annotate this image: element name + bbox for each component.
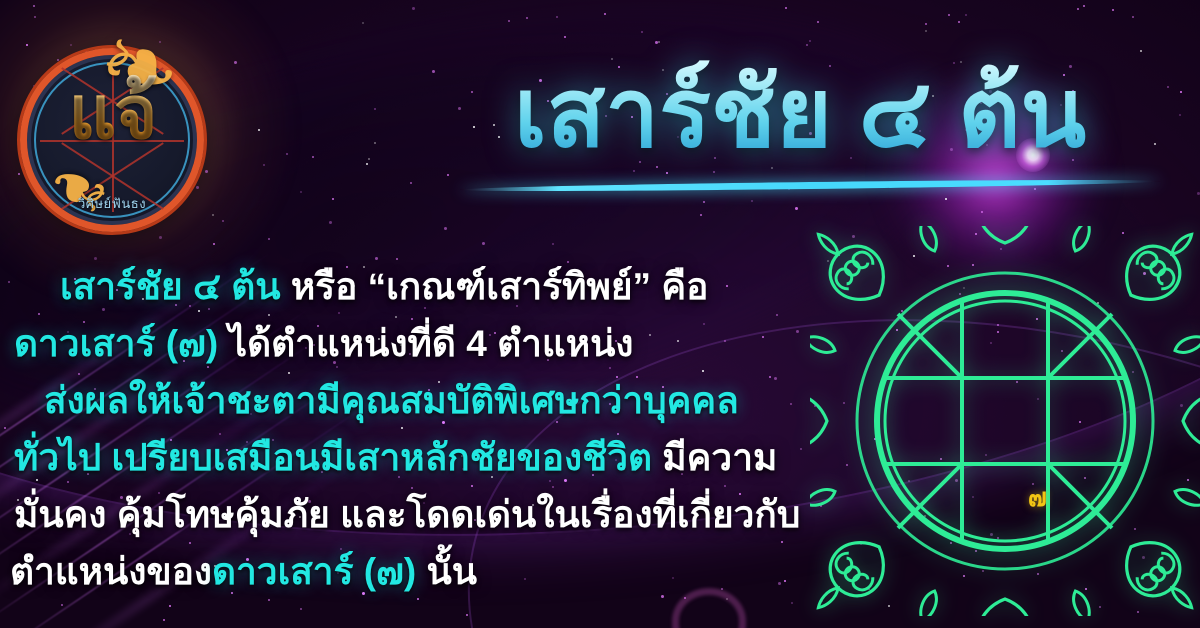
star-dot xyxy=(366,163,368,165)
star-dot xyxy=(412,7,415,10)
body-line-1: เสาร์ชัย ๔ ต้น หรือ “เกณฑ์เสาร์ทิพย์” คื… xyxy=(0,258,790,315)
star-dot xyxy=(234,61,237,64)
body-line-5: มั่นคง คุ้มโทษคุ้มภัย และโดดเด่นในเรื่อง… xyxy=(0,486,790,543)
star-dot xyxy=(790,403,792,405)
star-dot xyxy=(332,198,334,200)
star-dot xyxy=(1112,9,1114,11)
logo-subtitle: วิศิษย์ฟันธง xyxy=(14,193,210,214)
body-line-3-segment-1: ส่งผลให้เจ้าชะตามีคุณสมบัติพิเศษกว่าบุคค… xyxy=(44,380,739,421)
star-dot xyxy=(925,30,927,32)
star-dot xyxy=(817,21,819,23)
headline-block: เสาร์ชัย ๔ ต้น xyxy=(420,58,1180,170)
star-dot xyxy=(1083,5,1085,7)
star-dot xyxy=(312,156,314,158)
body-line-2-segment-1: ดาวเสาร์ (๗) xyxy=(14,323,228,364)
chart-divisions xyxy=(885,301,1125,541)
star-dot xyxy=(948,14,950,16)
star-dot xyxy=(981,211,983,213)
body-line-5-segment-1: มั่นคง คุ้มโทษคุ้มภัย และโดดเด่นในเรื่อง… xyxy=(14,494,800,535)
star-dot xyxy=(526,17,528,19)
body-line-2: ดาวเสาร์ (๗) ได้ตำแหน่งที่ดี 4 ตำแหน่ง xyxy=(0,315,790,372)
body-line-6-segment-2: ดาวเสาร์ (๗) xyxy=(212,551,426,592)
star-dot xyxy=(444,227,447,230)
star-dot xyxy=(633,170,635,172)
star-dot xyxy=(945,198,947,200)
star-dot xyxy=(374,142,376,144)
body-copy: เสาร์ชัย ๔ ต้น หรือ “เกณฑ์เสาร์ทิพย์” คื… xyxy=(0,258,790,600)
star-dot xyxy=(713,171,715,173)
star-dot xyxy=(552,243,554,245)
star-dot xyxy=(286,153,288,155)
body-line-2-segment-2: ได้ตำแหน่งที่ดี 4 ตำแหน่ง xyxy=(228,323,633,364)
star-dot xyxy=(508,20,510,22)
body-line-1-segment-2: หรือ “เกณฑ์เสาร์ทิพย์” คือ xyxy=(291,266,708,307)
star-dot xyxy=(1132,16,1134,18)
star-dot xyxy=(785,7,787,9)
brand-logo[interactable]: ❧ ❧ แจ้ วิศิษย์ฟันธง xyxy=(14,42,210,238)
star-dot xyxy=(1140,50,1142,52)
star-dot xyxy=(666,172,668,174)
star-dot xyxy=(925,23,927,25)
body-line-1-segment-1: เสาร์ชัย ๔ ต้น xyxy=(60,266,291,307)
star-dot xyxy=(556,16,558,18)
star-dot xyxy=(700,214,702,216)
star-dot xyxy=(791,602,793,604)
body-line-4-segment-1: ทั่วไป เปรียบเสมือนมีเสาหลักชัยของชีวิต xyxy=(14,437,662,478)
banner-canvas: ❧ ❧ แจ้ วิศิษย์ฟันธง เสาร์ชัย ๔ ต้น เสาร… xyxy=(0,0,1200,628)
star-dot xyxy=(374,108,376,110)
body-line-6: ตำแหน่งของดาวเสาร์ (๗) นั้น xyxy=(0,543,790,600)
star-dot xyxy=(1034,188,1036,190)
body-line-6-segment-3: นั้น xyxy=(426,551,477,592)
logo-wordmark: แจ้ xyxy=(14,70,210,156)
body-line-6-segment-1: ตำแหน่งของ xyxy=(10,551,212,592)
star-dot xyxy=(604,13,606,15)
star-dot xyxy=(795,207,798,210)
star-dot xyxy=(410,182,412,184)
star-dot xyxy=(1077,8,1079,10)
star-dot xyxy=(368,158,370,160)
star-dot xyxy=(447,174,449,176)
star-dot xyxy=(362,22,364,24)
star-dot xyxy=(800,448,802,450)
star-dot xyxy=(268,238,270,240)
star-dot xyxy=(796,330,799,333)
star-dot xyxy=(258,129,260,131)
star-dot xyxy=(329,221,332,224)
star-dot xyxy=(263,164,265,166)
star-dot xyxy=(641,31,643,33)
star-dot xyxy=(300,191,302,193)
star-dot xyxy=(658,41,660,43)
star-dot xyxy=(482,242,485,245)
star-dot xyxy=(958,21,960,23)
body-line-3: ส่งผลให้เจ้าชะตามีคุณสมบัติพิเศษกว่าบุคค… xyxy=(0,372,790,429)
star-dot xyxy=(809,40,811,42)
mandala-border xyxy=(810,226,1200,616)
star-dot xyxy=(33,5,35,7)
star-dot xyxy=(34,16,36,18)
star-dot xyxy=(965,14,967,16)
thai-horoscope-chart[interactable]: ๗ xyxy=(810,226,1200,616)
star-dot xyxy=(806,44,808,46)
star-dot xyxy=(212,214,214,216)
body-line-4-segment-2: มีความ xyxy=(662,437,777,478)
star-dot xyxy=(564,36,566,38)
star-dot xyxy=(466,614,468,616)
saturn-numeral: ๗ xyxy=(1028,478,1047,518)
star-dot xyxy=(751,200,753,202)
page-title: เสาร์ชัย ๔ ต้น xyxy=(420,58,1180,170)
body-line-4: ทั่วไป เปรียบเสมือนมีเสาหลักชัยของชีวิต … xyxy=(0,429,790,486)
star-dot xyxy=(703,201,705,203)
